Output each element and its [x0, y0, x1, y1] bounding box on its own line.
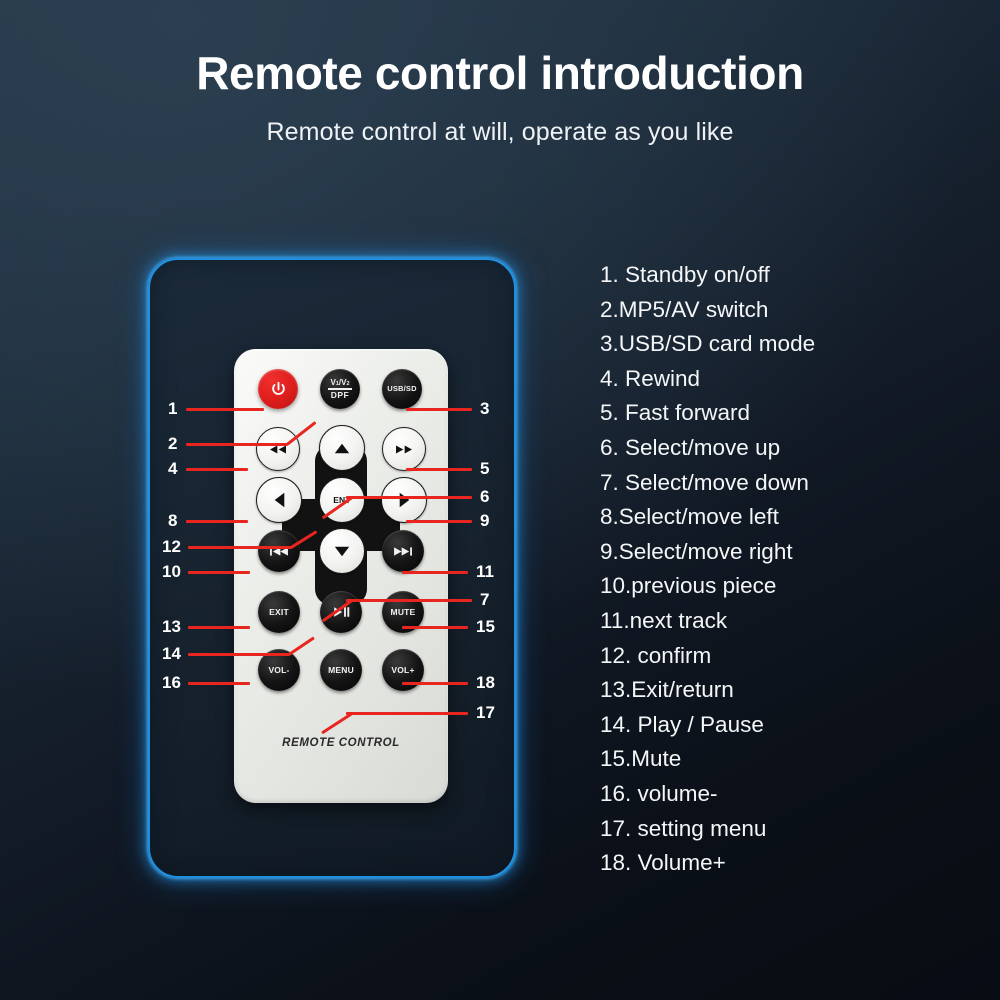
callout-line-11 — [402, 571, 468, 574]
callout-line-13 — [188, 626, 250, 629]
arrow-left-icon — [273, 492, 286, 508]
mute-label: MUTE — [391, 608, 416, 617]
legend-item: 13.Exit/return — [600, 673, 980, 708]
right-button[interactable] — [381, 477, 427, 523]
usb-sd-label: USB/SD — [387, 385, 417, 393]
next-track-button[interactable] — [382, 530, 424, 572]
header: Remote control introduction Remote contr… — [0, 0, 1000, 147]
callout-line-17a — [346, 712, 468, 715]
legend-item: 1. Standby on/off — [600, 258, 980, 293]
callout-number-13: 13 — [162, 618, 181, 635]
exit-button[interactable]: EXIT — [258, 591, 300, 633]
callout-number-8: 8 — [168, 512, 177, 529]
callout-line-10 — [188, 571, 250, 574]
fast-forward-button[interactable] — [382, 427, 426, 471]
callout-number-12: 12 — [162, 538, 181, 555]
arrow-right-icon — [398, 492, 411, 508]
legend-item: 2.MP5/AV switch — [600, 293, 980, 328]
callout-number-10: 10 — [162, 563, 181, 580]
callout-number-4: 4 — [168, 460, 177, 477]
callout-number-15: 15 — [476, 618, 495, 635]
callout-number-16: 16 — [162, 674, 181, 691]
callout-line-5 — [406, 468, 472, 471]
legend-item: 10.previous piece — [600, 569, 980, 604]
callout-line-8 — [186, 520, 248, 523]
remote-panel: V1/V2 DPF USB/SD — [148, 258, 516, 878]
previous-track-button[interactable] — [258, 530, 300, 572]
play-pause-button[interactable] — [320, 591, 362, 633]
callout-number-11: 11 — [476, 563, 494, 580]
page-subtitle: Remote control at will, operate as you l… — [0, 118, 1000, 147]
legend-item: 11.next track — [600, 604, 980, 639]
callout-line-7a — [346, 599, 472, 602]
callout-number-14: 14 — [162, 645, 181, 662]
menu-label: MENU — [328, 666, 354, 675]
mp5-av-switch-button[interactable]: V1/V2 DPF — [320, 369, 360, 409]
callout-line-3 — [406, 408, 472, 411]
remote-body: V1/V2 DPF USB/SD — [234, 349, 448, 803]
legend-item: 6. Select/move up — [600, 431, 980, 466]
legend-item: 18. Volume+ — [600, 846, 980, 881]
callout-number-17: 17 — [476, 704, 495, 721]
legend-item: 16. volume- — [600, 777, 980, 812]
legend-item: 7. Select/move down — [600, 466, 980, 501]
callout-number-6: 6 — [480, 488, 489, 505]
callout-number-5: 5 — [480, 460, 489, 477]
menu-button[interactable]: MENU — [320, 649, 362, 691]
legend-item: 15.Mute — [600, 742, 980, 777]
remote-brand-text: REMOTE CONTROL — [234, 737, 448, 749]
legend-item: 4. Rewind — [600, 362, 980, 397]
callout-number-7: 7 — [480, 591, 489, 608]
left-button[interactable] — [256, 477, 302, 523]
callout-line-14a — [188, 653, 290, 656]
power-button[interactable] — [258, 369, 298, 409]
callout-line-4 — [186, 468, 248, 471]
fast-forward-icon — [394, 444, 414, 455]
dpf-label-group: V1/V2 DPF — [328, 379, 352, 399]
up-button[interactable] — [319, 425, 365, 471]
legend-item: 17. setting menu — [600, 812, 980, 847]
next-track-icon — [392, 546, 414, 557]
dpf-bottom-label: DPF — [331, 390, 350, 400]
legend-list: 1. Standby on/off 2.MP5/AV switch 3.USB/… — [600, 258, 980, 881]
volume-up-label: VOL+ — [391, 666, 414, 675]
arrow-down-icon — [334, 545, 350, 558]
callout-line-18 — [402, 682, 468, 685]
callout-line-16 — [188, 682, 250, 685]
callout-line-12a — [188, 546, 292, 549]
callout-number-1: 1 — [168, 400, 177, 417]
usb-sd-button[interactable]: USB/SD — [382, 369, 422, 409]
legend-item: 12. confirm — [600, 639, 980, 674]
callout-line-1 — [186, 408, 264, 411]
down-button[interactable] — [319, 528, 365, 574]
legend-item: 9.Select/move right — [600, 535, 980, 570]
legend-item: 8.Select/move left — [600, 500, 980, 535]
arrow-up-icon — [334, 442, 350, 455]
power-icon — [270, 381, 287, 398]
callout-number-3: 3 — [480, 400, 489, 417]
legend-item: 3.USB/SD card mode — [600, 327, 980, 362]
callout-line-9 — [406, 520, 472, 523]
callout-line-15 — [402, 626, 468, 629]
page-root: Remote control introduction Remote contr… — [0, 0, 1000, 1000]
dpf-top-label: V1/V2 — [330, 379, 349, 389]
callout-line-2a — [186, 443, 288, 446]
volume-down-label: VOL- — [268, 666, 289, 675]
rewind-button[interactable] — [256, 427, 300, 471]
legend-item: 14. Play / Pause — [600, 708, 980, 743]
callout-line-6a — [346, 496, 472, 499]
callout-number-9: 9 — [480, 512, 489, 529]
callout-number-2: 2 — [168, 435, 177, 452]
page-title: Remote control introduction — [0, 50, 1000, 96]
volume-up-button[interactable]: VOL+ — [382, 649, 424, 691]
legend-item: 5. Fast forward — [600, 396, 980, 431]
callout-number-18: 18 — [476, 674, 495, 691]
exit-label: EXIT — [269, 608, 289, 617]
